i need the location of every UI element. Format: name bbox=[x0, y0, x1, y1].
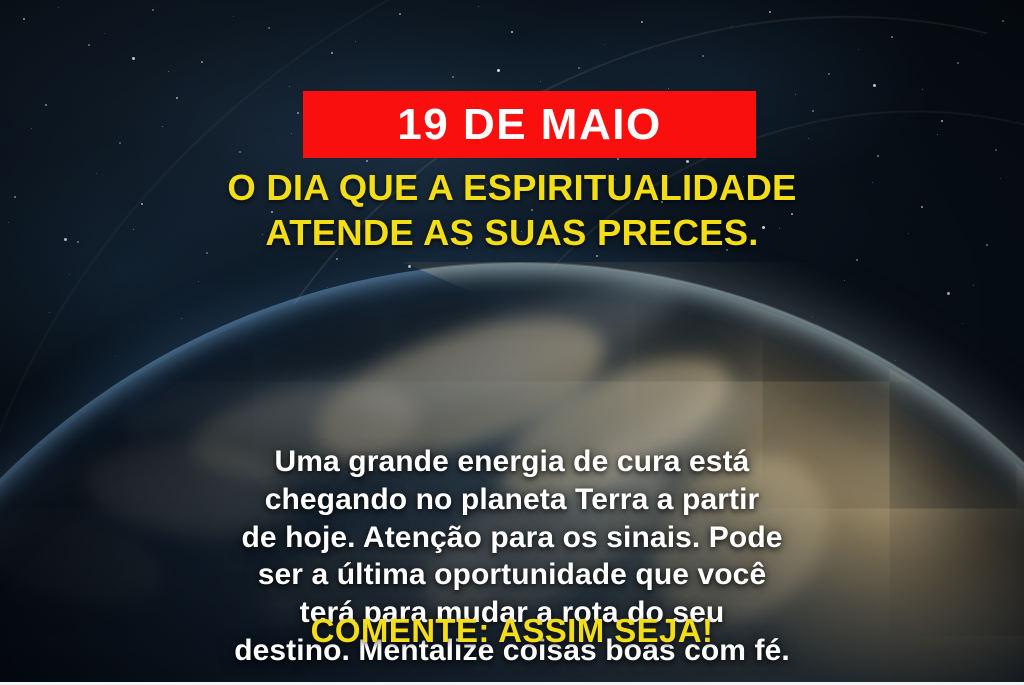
headline-line-1: O DIA QUE A ESPIRITUALIDADE bbox=[0, 166, 1024, 211]
body-line-4: ser a última oportunidade que você bbox=[48, 556, 976, 594]
poster-content: 19 DE MAIO O DIA QUE A ESPIRITUALIDADE A… bbox=[0, 0, 1024, 685]
date-banner: 19 DE MAIO bbox=[303, 91, 756, 158]
headline-line-2: ATENDE AS SUAS PRECES. bbox=[0, 211, 1024, 256]
date-banner-label: 19 DE MAIO bbox=[397, 103, 661, 147]
body-line-3: de hoje. Atenção para os sinais. Pode bbox=[48, 519, 976, 557]
headline: O DIA QUE A ESPIRITUALIDADE ATENDE AS SU… bbox=[0, 166, 1024, 255]
call-to-action-text: COMENTE: ASSIM SEJA! bbox=[0, 612, 1024, 650]
body-line-2: chegando no planeta Terra a partir bbox=[48, 481, 976, 519]
poster-canvas: 19 DE MAIO O DIA QUE A ESPIRITUALIDADE A… bbox=[0, 0, 1024, 685]
body-line-1: Uma grande energia de cura está bbox=[48, 443, 976, 481]
